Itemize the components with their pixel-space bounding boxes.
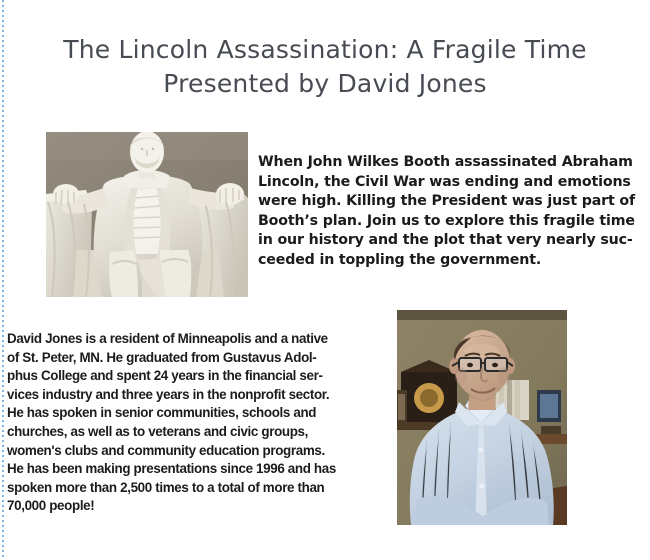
lincoln-memorial-statue-photo bbox=[46, 132, 248, 297]
speaker-portrait-image bbox=[397, 310, 567, 525]
event-description-line: Lincoln, the Civil War was ending and em… bbox=[258, 173, 650, 193]
event-description-line: were high. Killing the President was jus… bbox=[258, 192, 650, 212]
speaker-biography-line: women's clubs and community education pr… bbox=[7, 442, 389, 461]
speaker-biography-line: 70,000 people! bbox=[7, 497, 389, 516]
event-description-line: in our history and the plot that very ne… bbox=[258, 231, 650, 251]
event-description-line: Booth’s plan. Join us to explore this fr… bbox=[258, 212, 650, 232]
page-title-line-2: Presented by David Jones bbox=[0, 67, 650, 101]
speaker-biography: David Jones is a resident of Minneapolis… bbox=[7, 330, 389, 516]
speaker-biography-line: vices industry and three years in the no… bbox=[7, 386, 389, 405]
event-description-line: When John Wilkes Booth assassinated Abra… bbox=[258, 153, 650, 173]
speaker-biography-line: phus College and spent 24 years in the f… bbox=[7, 367, 389, 386]
event-description: When John Wilkes Booth assassinated Abra… bbox=[258, 153, 650, 271]
speaker-biography-line: of St. Peter, MN. He graduated from Gust… bbox=[7, 349, 389, 368]
speaker-portrait-photo bbox=[397, 310, 567, 525]
speaker-biography-line: spoken more than 2,500 times to a total … bbox=[7, 479, 389, 498]
page-title-line-1: The Lincoln Assassination: A Fragile Tim… bbox=[0, 33, 650, 67]
lincoln-memorial-statue-image bbox=[46, 132, 248, 297]
page-title: The Lincoln Assassination: A Fragile Tim… bbox=[0, 33, 650, 101]
speaker-biography-line: He has spoken in senior communities, sch… bbox=[7, 404, 389, 423]
speaker-biography-line: He has been making presentations since 1… bbox=[7, 460, 389, 479]
speaker-biography-line: David Jones is a resident of Minneapolis… bbox=[7, 330, 389, 349]
event-description-line: ceeded in toppling the government. bbox=[258, 251, 650, 271]
speaker-biography-line: churches, as well as to veterans and civ… bbox=[7, 423, 389, 442]
